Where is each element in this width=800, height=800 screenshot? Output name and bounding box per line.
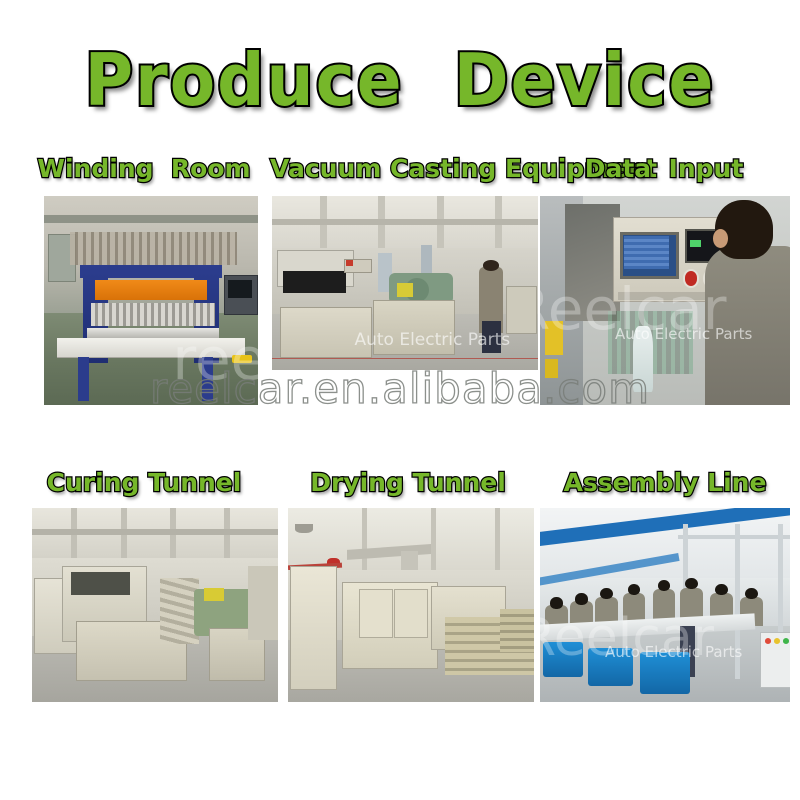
right-equipment xyxy=(506,286,537,333)
tall-cabinet xyxy=(290,566,336,690)
product-crates xyxy=(500,609,534,652)
oven-door-right xyxy=(394,589,428,638)
section-caption-drying-tunnel: Drying Tunnel xyxy=(282,468,534,498)
operator-legs xyxy=(482,321,501,352)
overhead-pipe xyxy=(32,529,278,535)
photo-winding-room-scene xyxy=(44,196,258,405)
worker-head xyxy=(628,584,641,596)
oven-door-left xyxy=(359,589,393,638)
access-stairs xyxy=(160,578,199,644)
parts-bin xyxy=(640,652,690,695)
page-title: Produce Device xyxy=(0,44,800,116)
status-led-yellow xyxy=(774,638,780,644)
right-equipment xyxy=(248,566,278,640)
section-caption-curing-tunnel: Curing Tunnel xyxy=(28,468,260,498)
photo-winding-room: reel xyxy=(44,196,258,405)
parts-bin xyxy=(543,642,583,677)
yellow-cable xyxy=(232,355,251,363)
operator-body xyxy=(705,246,790,405)
product-showcase-page: Produce Device Winding Room Vacuum Casti… xyxy=(0,0,800,800)
photo-vacuum-casting-equipment: Auto Electric Parts xyxy=(272,196,538,370)
overhead-pipe xyxy=(272,219,538,225)
section-caption-vacuum-casting-equipment: Vacuum Casting Equipment xyxy=(270,154,542,184)
photo-curing-tunnel-scene xyxy=(32,508,278,702)
floor-marking-line xyxy=(272,358,538,359)
ceiling-lamp xyxy=(295,524,312,534)
ceiling-column xyxy=(431,508,436,570)
machine-enclosure-left xyxy=(280,307,372,358)
section-caption-data-input: Data Input xyxy=(548,154,780,184)
worker-head xyxy=(685,578,698,590)
yellow-equipment xyxy=(545,359,558,378)
photo-data-input-scene xyxy=(540,196,790,405)
machine-orange-guard xyxy=(95,280,206,301)
status-led-red xyxy=(765,638,771,644)
white-container xyxy=(633,326,653,393)
worker-head xyxy=(600,588,613,600)
control-cabinet-screen xyxy=(228,280,252,299)
yellow-component xyxy=(397,283,413,297)
section-caption-assembly-line: Assembly Line xyxy=(540,468,790,498)
machine-table xyxy=(57,338,245,358)
ceiling-column xyxy=(362,508,367,570)
background-rack xyxy=(70,232,237,265)
machine-leg-right xyxy=(202,357,213,401)
yellow-component xyxy=(204,588,224,602)
photo-curing-tunnel xyxy=(32,508,278,702)
machine-enclosure-right xyxy=(373,300,455,354)
photo-assembly-line-scene xyxy=(540,508,790,702)
yellow-equipment xyxy=(545,321,563,354)
worker-head xyxy=(658,580,671,592)
worker-head xyxy=(550,597,563,609)
parts-bin xyxy=(588,648,633,687)
worker-head xyxy=(575,593,588,605)
photo-vacuum-casting-scene xyxy=(272,196,538,370)
hmi-screen-content xyxy=(624,236,669,269)
ceiling-beam xyxy=(44,215,258,223)
operator-ear xyxy=(713,229,728,248)
section-caption-winding-room: Winding Room xyxy=(28,154,260,184)
ceiling-column xyxy=(495,508,500,570)
worker-head xyxy=(715,584,728,596)
machine-leg-left xyxy=(78,357,89,401)
black-tray xyxy=(283,271,347,294)
status-led-green xyxy=(783,638,789,644)
tunnel-window xyxy=(71,572,130,595)
photo-drying-tunnel-scene xyxy=(288,508,534,702)
photo-data-input: Reelcar Auto Electric Parts xyxy=(540,196,790,405)
machine-bed-rail xyxy=(87,328,220,338)
emergency-stop-button xyxy=(683,269,700,288)
photo-assembly-line: Reelcar Auto Electric Parts xyxy=(540,508,790,702)
overhead-shelf xyxy=(678,535,791,539)
photo-drying-tunnel xyxy=(288,508,534,702)
indicator-light xyxy=(346,260,353,265)
worker-head xyxy=(745,588,758,600)
winding-spindles xyxy=(91,303,215,326)
